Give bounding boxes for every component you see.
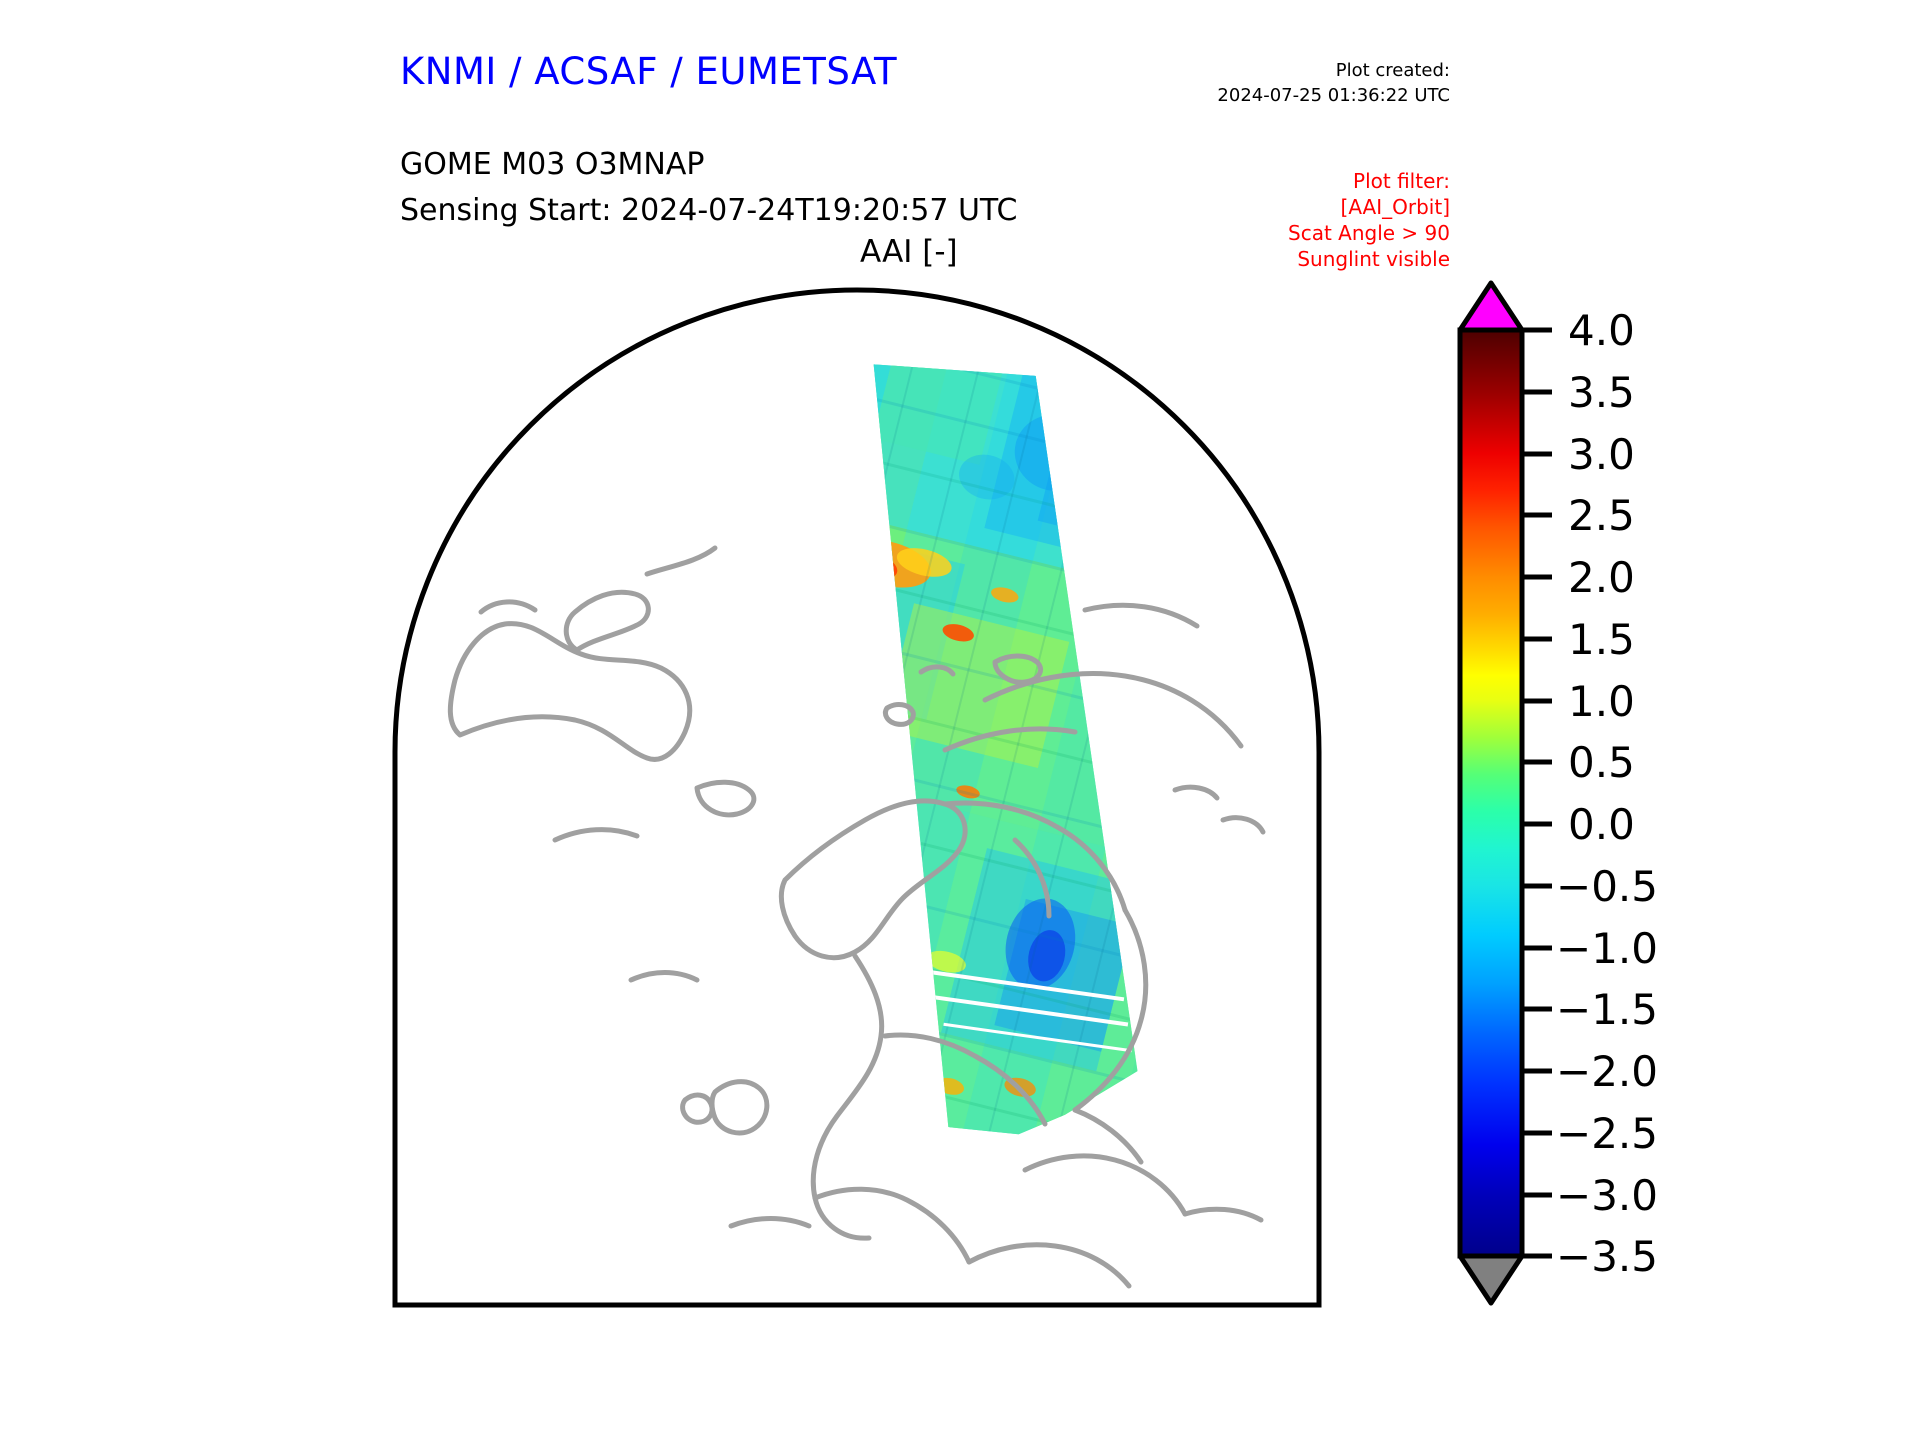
colorbar-svg: 4.0 3.5 3.0 2.5 2.0 1.5 1.0 0.5 0.0 −0.5… bbox=[1448, 278, 1868, 1308]
colorbar-tick-label: −1.0 bbox=[1556, 924, 1658, 973]
plot-created-label: Plot created: bbox=[1217, 58, 1450, 83]
org-title: KNMI / ACSAF / EUMETSAT bbox=[400, 50, 897, 93]
colorbar-under-arrow bbox=[1460, 1256, 1522, 1303]
page-title: AAI [-] bbox=[860, 234, 958, 270]
colorbar-tick-label: 2.5 bbox=[1568, 491, 1635, 540]
colorbar-tick-label: 3.5 bbox=[1568, 368, 1635, 417]
plot-filter-name: [AAI_Orbit] bbox=[1288, 194, 1450, 220]
product-info: GOME M03 O3MNAP Sensing Start: 2024-07-2… bbox=[400, 142, 1017, 234]
product-name: GOME M03 O3MNAP bbox=[400, 142, 1017, 188]
colorbar-tick-label: −0.5 bbox=[1556, 862, 1658, 911]
colorbar-tick-label: 1.5 bbox=[1568, 615, 1635, 664]
plot-created-block: Plot created: 2024-07-25 01:36:22 UTC bbox=[1217, 58, 1450, 108]
colorbar-over-arrow bbox=[1460, 283, 1522, 330]
colorbar-gradient bbox=[1460, 330, 1522, 1256]
colorbar-tick-label: 3.0 bbox=[1568, 430, 1635, 479]
colorbar-tick-label: −3.5 bbox=[1556, 1232, 1658, 1281]
polar-stereographic-map bbox=[385, 280, 1330, 1310]
colorbar-tick-label: 0.0 bbox=[1568, 800, 1635, 849]
plot-filter-scat-angle: Scat Angle > 90 bbox=[1288, 220, 1450, 246]
plot-filter-sunglint: Sunglint visible bbox=[1288, 246, 1450, 272]
plot-created-time: 2024-07-25 01:36:22 UTC bbox=[1217, 83, 1450, 108]
colorbar-tick-label: 0.5 bbox=[1568, 738, 1635, 787]
colorbar-tick-label: −2.0 bbox=[1556, 1047, 1658, 1096]
colorbar-tick-labels: 4.0 3.5 3.0 2.5 2.0 1.5 1.0 0.5 0.0 −0.5… bbox=[1556, 306, 1658, 1281]
plot-filter-block: Plot filter: [AAI_Orbit] Scat Angle > 90… bbox=[1288, 168, 1450, 272]
colorbar-tick-label: 4.0 bbox=[1568, 306, 1635, 355]
colorbar-tick-label: 2.0 bbox=[1568, 553, 1635, 602]
colorbar-tick-label: −1.5 bbox=[1556, 985, 1658, 1034]
map-plot-area bbox=[385, 280, 1330, 1310]
colorbar-tick-label: 1.0 bbox=[1568, 677, 1635, 726]
sensing-start: Sensing Start: 2024-07-24T19:20:57 UTC bbox=[400, 188, 1017, 234]
colorbar-tick-label: −3.0 bbox=[1556, 1171, 1658, 1220]
colorbar-tick-label: −2.5 bbox=[1556, 1109, 1658, 1158]
plot-filter-label: Plot filter: bbox=[1288, 168, 1450, 194]
colorbar: 4.0 3.5 3.0 2.5 2.0 1.5 1.0 0.5 0.0 −0.5… bbox=[1448, 278, 1868, 1308]
colorbar-ticks bbox=[1522, 330, 1552, 1256]
